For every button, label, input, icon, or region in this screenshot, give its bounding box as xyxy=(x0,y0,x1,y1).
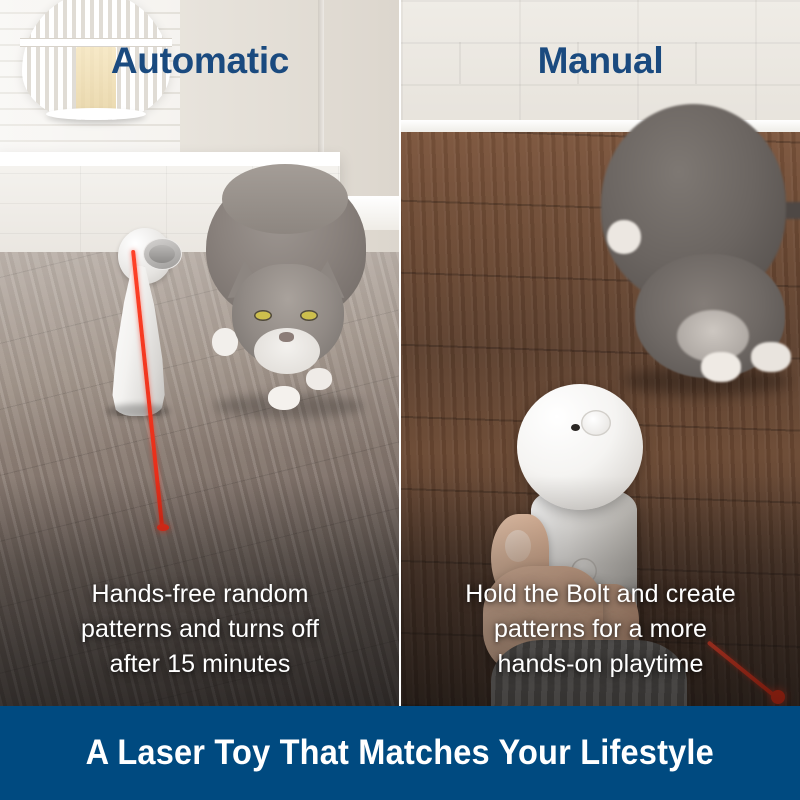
panel-automatic: Automatic Hands-free random patterns and… xyxy=(0,0,401,706)
cat-paw-front-right xyxy=(268,386,300,410)
product-feature-graphic: Automatic Hands-free random patterns and… xyxy=(0,0,800,800)
caption-automatic: Hands-free random patterns and turns off… xyxy=(0,577,400,682)
caption-line-2: patterns and turns off xyxy=(0,612,400,647)
cat-paw-rear xyxy=(607,220,641,254)
device-laser-aperture xyxy=(571,424,580,431)
cat-paw-front-right xyxy=(751,342,791,372)
caption-line-1: Hands-free random xyxy=(0,577,400,612)
panel-heading-automatic: Automatic xyxy=(0,40,400,82)
bottom-banner: A Laser Toy That Matches Your Lifestyle xyxy=(0,706,800,800)
banner-headline: A Laser Toy That Matches Your Lifestyle xyxy=(86,733,714,773)
comparison-panels: Automatic Hands-free random patterns and… xyxy=(0,0,800,706)
cat-automatic xyxy=(196,172,396,472)
cat-paw-rear xyxy=(306,368,332,390)
caption-line-3: hands-on playtime xyxy=(401,647,800,682)
caption-manual: Hold the Bolt and create patterns for a … xyxy=(401,577,800,682)
caption-line-1: Hold the Bolt and create xyxy=(401,577,800,612)
panel-manual: Manual Hold the Bolt and create patterns… xyxy=(401,0,800,706)
caption-line-2: patterns for a more xyxy=(401,612,800,647)
device-shadow xyxy=(106,404,170,418)
device-lens xyxy=(143,238,182,270)
device-lens-inner xyxy=(149,245,175,263)
panel-heading-manual: Manual xyxy=(401,40,800,82)
caption-line-3: after 15 minutes xyxy=(0,647,400,682)
lantern-base xyxy=(46,108,146,120)
cat-back xyxy=(222,164,348,234)
cat-eye-right xyxy=(300,310,318,321)
device-lens xyxy=(581,410,611,436)
cat-nose xyxy=(279,332,294,342)
cat-eye-left xyxy=(254,310,272,321)
